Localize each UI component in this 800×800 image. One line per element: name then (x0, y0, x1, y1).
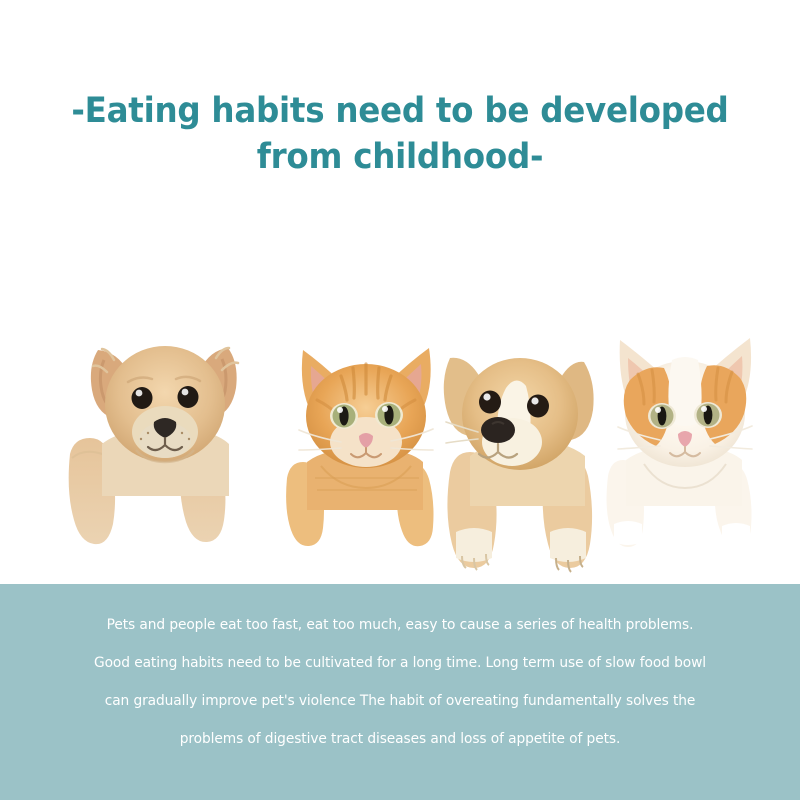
pet-image-orange-tabby-kitten (281, 338, 451, 548)
pet-image-orange-white-kitten (600, 334, 770, 554)
page-title-line-1: -Eating habits need to be developed (28, 88, 772, 134)
pet-image-scruffy-terrier-puppy (62, 326, 272, 556)
promotional-banner: -Eating habits need to be developed from… (0, 0, 800, 800)
description-band: Pets and people eat too fast, eat too mu… (0, 584, 800, 800)
description-text: Pets and people eat too fast, eat too mu… (20, 606, 780, 758)
description-line-1: Pets and people eat too fast, eat too mu… (33, 606, 766, 644)
page-title: -Eating habits need to be developed from… (28, 88, 772, 180)
page-title-line-2: from childhood- (28, 134, 772, 180)
pet-image-golden-puppy (432, 334, 622, 574)
pet-photo-strip (0, 318, 800, 584)
description-line-3: can gradually improve pet's violence The… (33, 682, 766, 720)
description-line-2: Good eating habits need to be cultivated… (33, 644, 766, 682)
description-line-4: problems of digestive tract diseases and… (33, 720, 766, 758)
